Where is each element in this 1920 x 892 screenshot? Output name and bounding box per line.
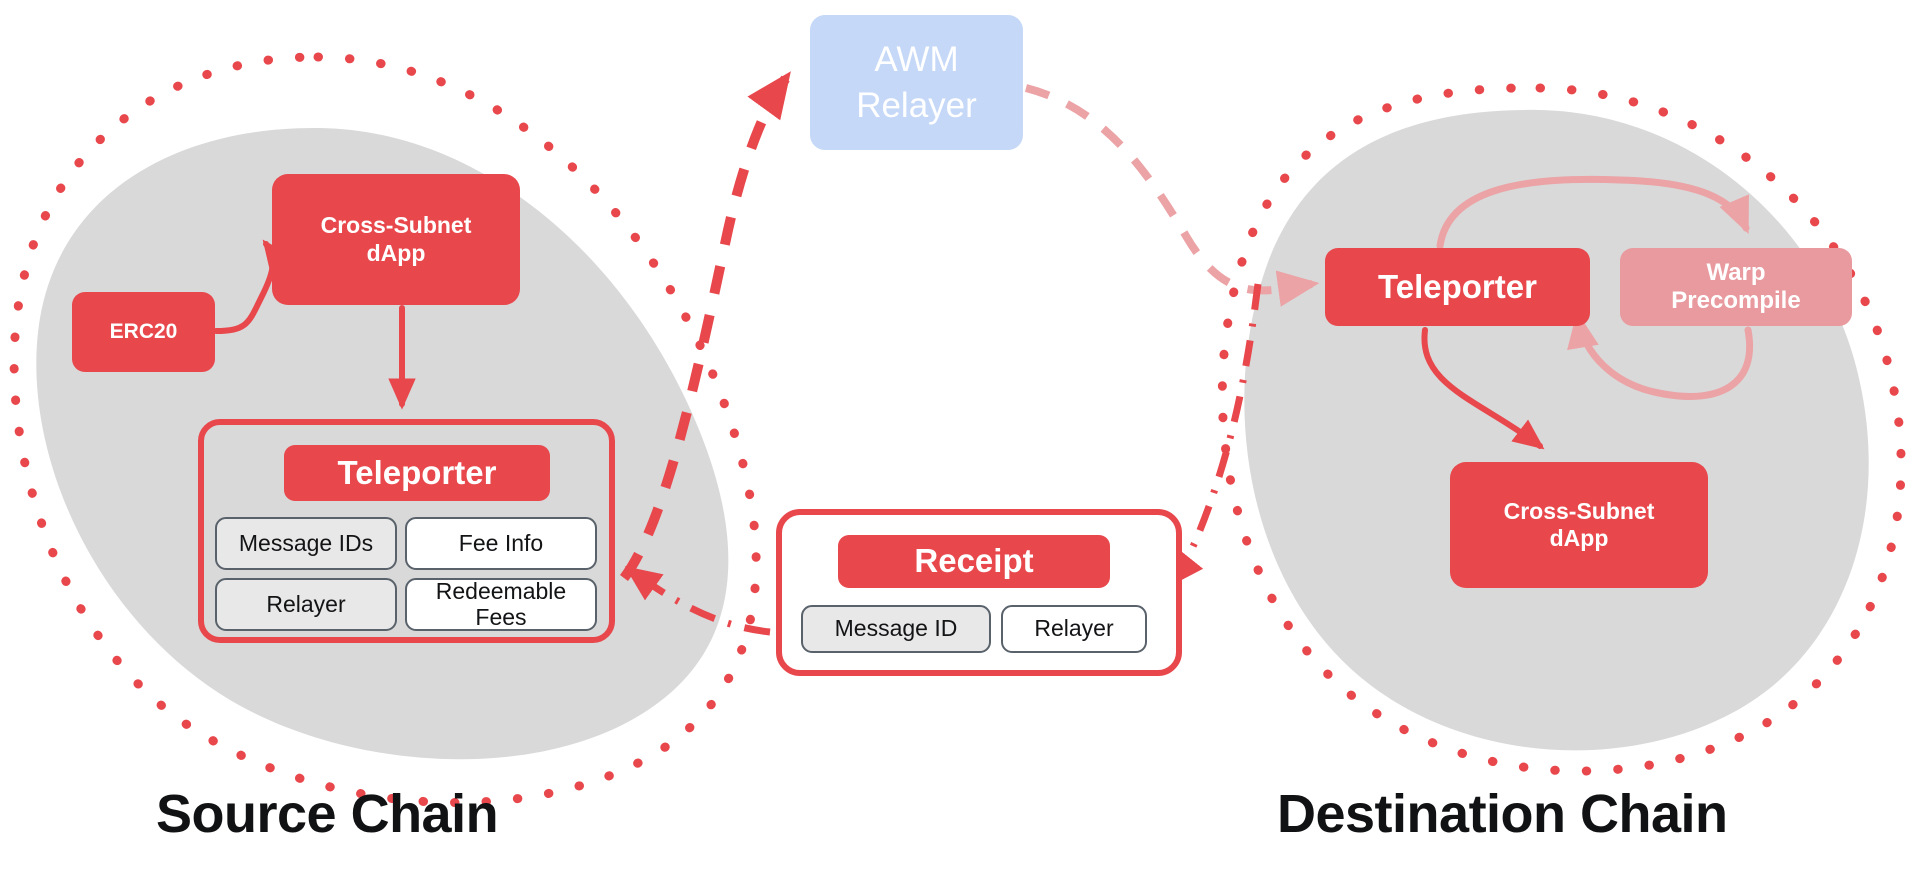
label-source-chain: Source Chain xyxy=(156,783,498,845)
destination-chain-blob xyxy=(1244,110,1868,750)
arrow-awm-relayer-to-dst-teleporter xyxy=(1026,88,1312,290)
destination-chain-boundary xyxy=(1222,88,1901,771)
diagram-canvas: ERC20 Cross-Subnet dApp Teleporter Messa… xyxy=(0,0,1920,892)
label-destination-chain: Destination Chain xyxy=(1277,783,1728,845)
field-fee-info[interactable]: Fee Info xyxy=(405,517,597,570)
node-destination-cross-subnet-dapp[interactable]: Cross-Subnet dApp xyxy=(1450,462,1708,588)
arrow-dst-to-receipt xyxy=(1172,284,1258,582)
node-receipt-title[interactable]: Receipt xyxy=(838,535,1110,588)
arrow-dst-teleporter-to-dst-dapp xyxy=(1424,330,1540,446)
node-destination-teleporter[interactable]: Teleporter xyxy=(1325,248,1590,326)
node-awm-relayer[interactable]: AWM Relayer xyxy=(810,15,1023,150)
node-warp-precompile[interactable]: Warp Precompile xyxy=(1620,248,1852,326)
field-relayer-receipt[interactable]: Relayer xyxy=(1001,605,1147,653)
arrow-erc20-to-src-dapp xyxy=(216,244,273,331)
field-message-id[interactable]: Message ID xyxy=(801,605,991,653)
arrow-warp-to-dst-teleporter xyxy=(1578,318,1750,396)
arrow-src-to-awm-relayer xyxy=(624,78,786,578)
field-redeemable-fees[interactable]: Redeemable Fees xyxy=(405,578,597,631)
field-message-ids[interactable]: Message IDs xyxy=(215,517,397,570)
arrow-dst-teleporter-to-warp xyxy=(1440,179,1746,246)
arrow-receipt-to-src-teleporter xyxy=(630,570,770,632)
field-relayer-source[interactable]: Relayer xyxy=(215,578,397,631)
node-erc20[interactable]: ERC20 xyxy=(72,292,215,372)
node-source-cross-subnet-dapp[interactable]: Cross-Subnet dApp xyxy=(272,174,520,305)
node-source-teleporter-title[interactable]: Teleporter xyxy=(284,445,550,501)
